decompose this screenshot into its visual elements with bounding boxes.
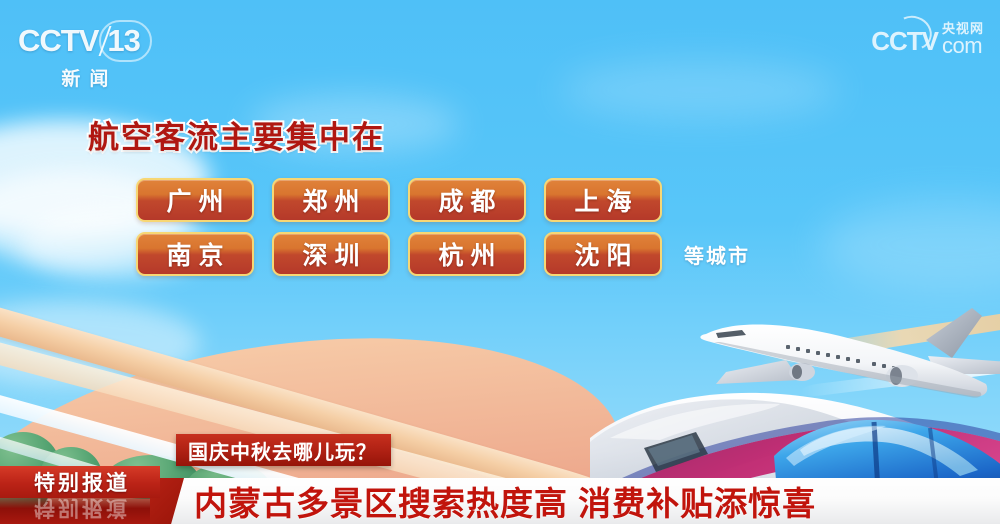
question-tab: 国庆中秋去哪儿玩？	[176, 434, 391, 466]
city-tag[interactable]: 深圳	[272, 232, 390, 276]
channel-number-badge: 13	[99, 20, 151, 62]
special-report-badge: 特别报道	[0, 466, 160, 498]
city-tag[interactable]: 成都	[408, 178, 526, 222]
special-report-badge-reflection: 特别报道	[0, 498, 160, 524]
cctv-com-watermark: CCTV 央视网 com	[871, 22, 984, 57]
cloud-shape	[560, 60, 840, 120]
city-tag[interactable]: 广州	[136, 178, 254, 222]
city-tag[interactable]: 上海	[544, 178, 662, 222]
lower-third: 特别报道 特别报道 国庆中秋去哪儿玩？ 内蒙古多景区搜索热度高 消费补贴添惊喜	[0, 434, 1000, 524]
city-tag-row: 广州 郑州 成都 上海	[136, 178, 750, 222]
city-tag[interactable]: 沈阳	[544, 232, 662, 276]
airplane-illustration	[690, 300, 1000, 440]
cloud-shape	[820, 200, 1000, 290]
city-tag-suffix: 等城市	[684, 240, 750, 269]
cctv-wordmark: CCTV 13	[18, 20, 152, 62]
watermark-right: 央视网 com	[942, 22, 984, 57]
graphic-kicker: 航空客流主要集中在	[88, 112, 385, 157]
watermark-tld: com	[942, 35, 982, 57]
city-tag[interactable]: 郑州	[272, 178, 390, 222]
channel-number: 13	[107, 23, 139, 59]
headline-text: 内蒙古多景区搜索热度高 消费补贴添惊喜	[194, 478, 816, 524]
cctv-letters: CCTV	[18, 23, 98, 59]
city-tag-row: 南京 深圳 杭州 沈阳 等城市	[136, 232, 750, 276]
city-tag-grid: 广州 郑州 成都 上海 南京 深圳 杭州 沈阳 等城市	[136, 178, 750, 276]
city-tag[interactable]: 南京	[136, 232, 254, 276]
broadcast-frame: CCTV 13 新闻 CCTV 央视网 com 航空客流主要集中在 广州 郑州 …	[0, 0, 1000, 524]
channel-subtitle: 新闻	[18, 64, 152, 91]
city-tag[interactable]: 杭州	[408, 232, 526, 276]
channel-logo: CCTV 13 新闻	[18, 20, 152, 91]
headline-bar: 内蒙古多景区搜索热度高 消费补贴添惊喜	[150, 478, 1000, 524]
